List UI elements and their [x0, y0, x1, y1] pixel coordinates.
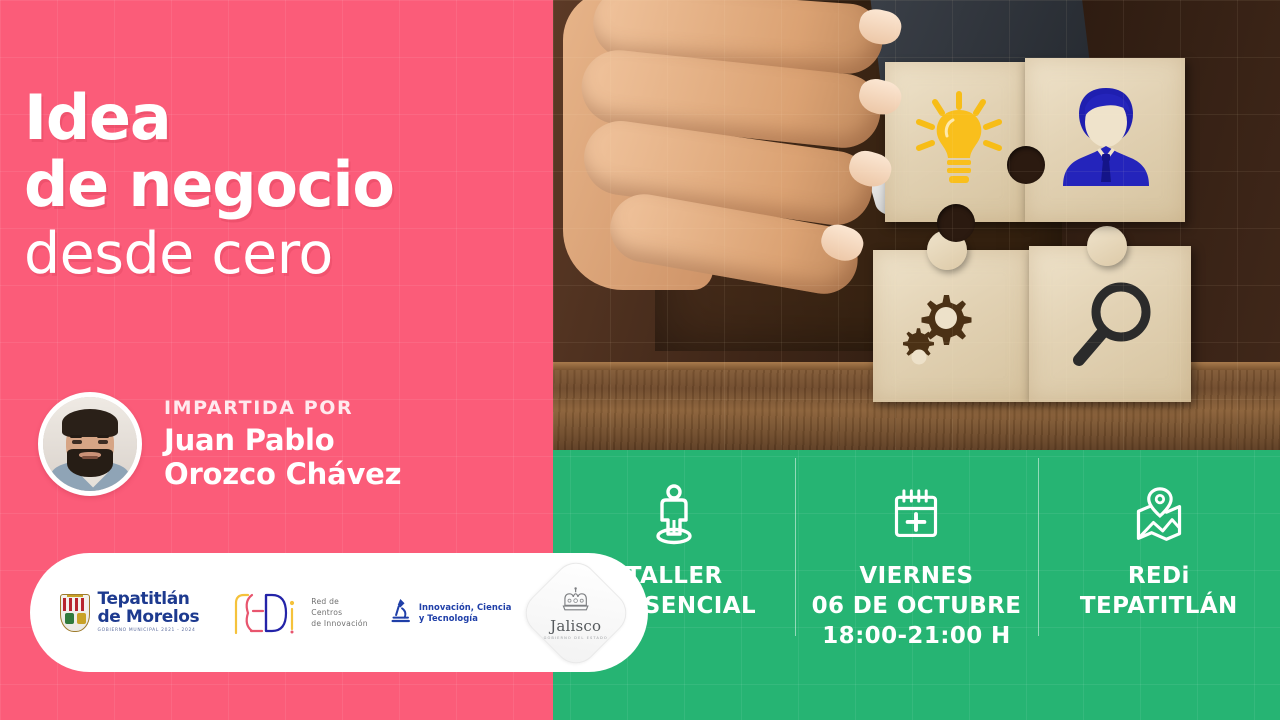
avatar-eye: [98, 440, 107, 443]
redi-line-2: Centros: [311, 607, 368, 618]
info-line: TEPATITLÁN: [1080, 592, 1238, 622]
jalisco-inner: Jalisco GOBIERNO DEL ESTADO: [544, 586, 608, 639]
redi-text: Red de Centros de Innovación: [311, 596, 368, 629]
calendar-plus-icon: [890, 484, 942, 546]
info-column-date: VIERNES 06 DE OCTUBRE 18:00-21:00 H: [795, 450, 1037, 652]
poster-title: Idea de negocio desde cero: [24, 88, 544, 283]
redi-line-3: de Innovación: [311, 618, 368, 629]
speaker-name-line-1: Juan Pablo: [164, 423, 401, 457]
logo-jalisco: Jalisco GOBIERNO DEL ESTADO: [534, 571, 618, 655]
microscope-icon: [391, 596, 413, 629]
person-standing-icon: [648, 484, 700, 546]
tepatitlan-line-2: de Morelos: [98, 609, 200, 626]
avatar-eyebrow: [97, 435, 109, 439]
event-poster: Idea de negocio desde cero: [0, 0, 1280, 720]
info-text-location: REDi TEPATITLÁN: [1080, 562, 1238, 622]
event-info-row: TALLER PRESENCIAL VIERNES 06 DE: [553, 450, 1280, 720]
title-line-1: Idea: [24, 88, 544, 149]
info-line: REDi: [1080, 562, 1238, 592]
map-pin-icon: [1131, 484, 1187, 546]
sponsor-logo-bar: Tepatitlán de Morelos GOBIERNO MUNICIPAL…: [30, 553, 648, 672]
hero-photo: [553, 0, 1280, 450]
jalisco-name: Jalisco: [544, 618, 608, 633]
info-text-date: VIERNES 06 DE OCTUBRE 18:00-21:00 H: [812, 562, 1022, 652]
ict-line-2: y Tecnología: [419, 613, 512, 624]
avatar: [38, 392, 142, 496]
coat-of-arms-icon: [60, 594, 90, 632]
speaker-block: IMPARTIDA POR Juan Pablo Orozco Chávez: [38, 392, 401, 496]
info-line: 06 DE OCTUBRE: [812, 592, 1022, 622]
avatar-eye: [72, 440, 81, 443]
crest-top: [67, 594, 83, 597]
jalisco-badge: Jalisco GOBIERNO DEL ESTADO: [517, 553, 636, 672]
logo-redi: Red de Centros de Innovación: [222, 591, 368, 635]
info-line: VIERNES: [812, 562, 1022, 592]
info-line: 18:00-21:00 H: [812, 622, 1022, 652]
crown-icon: [544, 586, 608, 617]
info-column-location: REDi TEPATITLÁN: [1038, 450, 1280, 622]
speaker-name-line-2: Orozco Chávez: [164, 457, 401, 491]
avatar-lips: [82, 456, 97, 459]
jalisco-subtitle: GOBIERNO DEL ESTADO: [544, 635, 608, 639]
ict-text: Innovación, Ciencia y Tecnología: [419, 602, 512, 624]
tepatitlan-subtitle: GOBIERNO MUNICIPAL 2021 - 2024: [98, 629, 200, 633]
photo-grid-overlay: [553, 0, 1280, 450]
avatar-photo: [43, 397, 137, 491]
avatar-hair: [62, 409, 118, 437]
tepatitlan-line-1: Tepatitlán: [98, 591, 200, 608]
speaker-kicker: IMPARTIDA POR: [164, 397, 401, 419]
logo-tepatitlan-de-morelos: Tepatitlán de Morelos GOBIERNO MUNICIPAL…: [60, 591, 200, 633]
speaker-text: IMPARTIDA POR Juan Pablo Orozco Chávez: [164, 397, 401, 491]
redi-wordmark-icon: [222, 591, 302, 635]
title-line-2: de negocio: [24, 155, 544, 216]
avatar-eyebrow: [70, 435, 82, 439]
title-line-3: desde cero: [24, 226, 544, 283]
redi-line-1: Red de: [311, 596, 368, 607]
tepatitlan-text: Tepatitlán de Morelos GOBIERNO MUNICIPAL…: [98, 591, 200, 633]
ict-line-1: Innovación, Ciencia: [419, 602, 512, 613]
logo-innovacion-ciencia-tecnologia: Innovación, Ciencia y Tecnología: [391, 596, 512, 629]
